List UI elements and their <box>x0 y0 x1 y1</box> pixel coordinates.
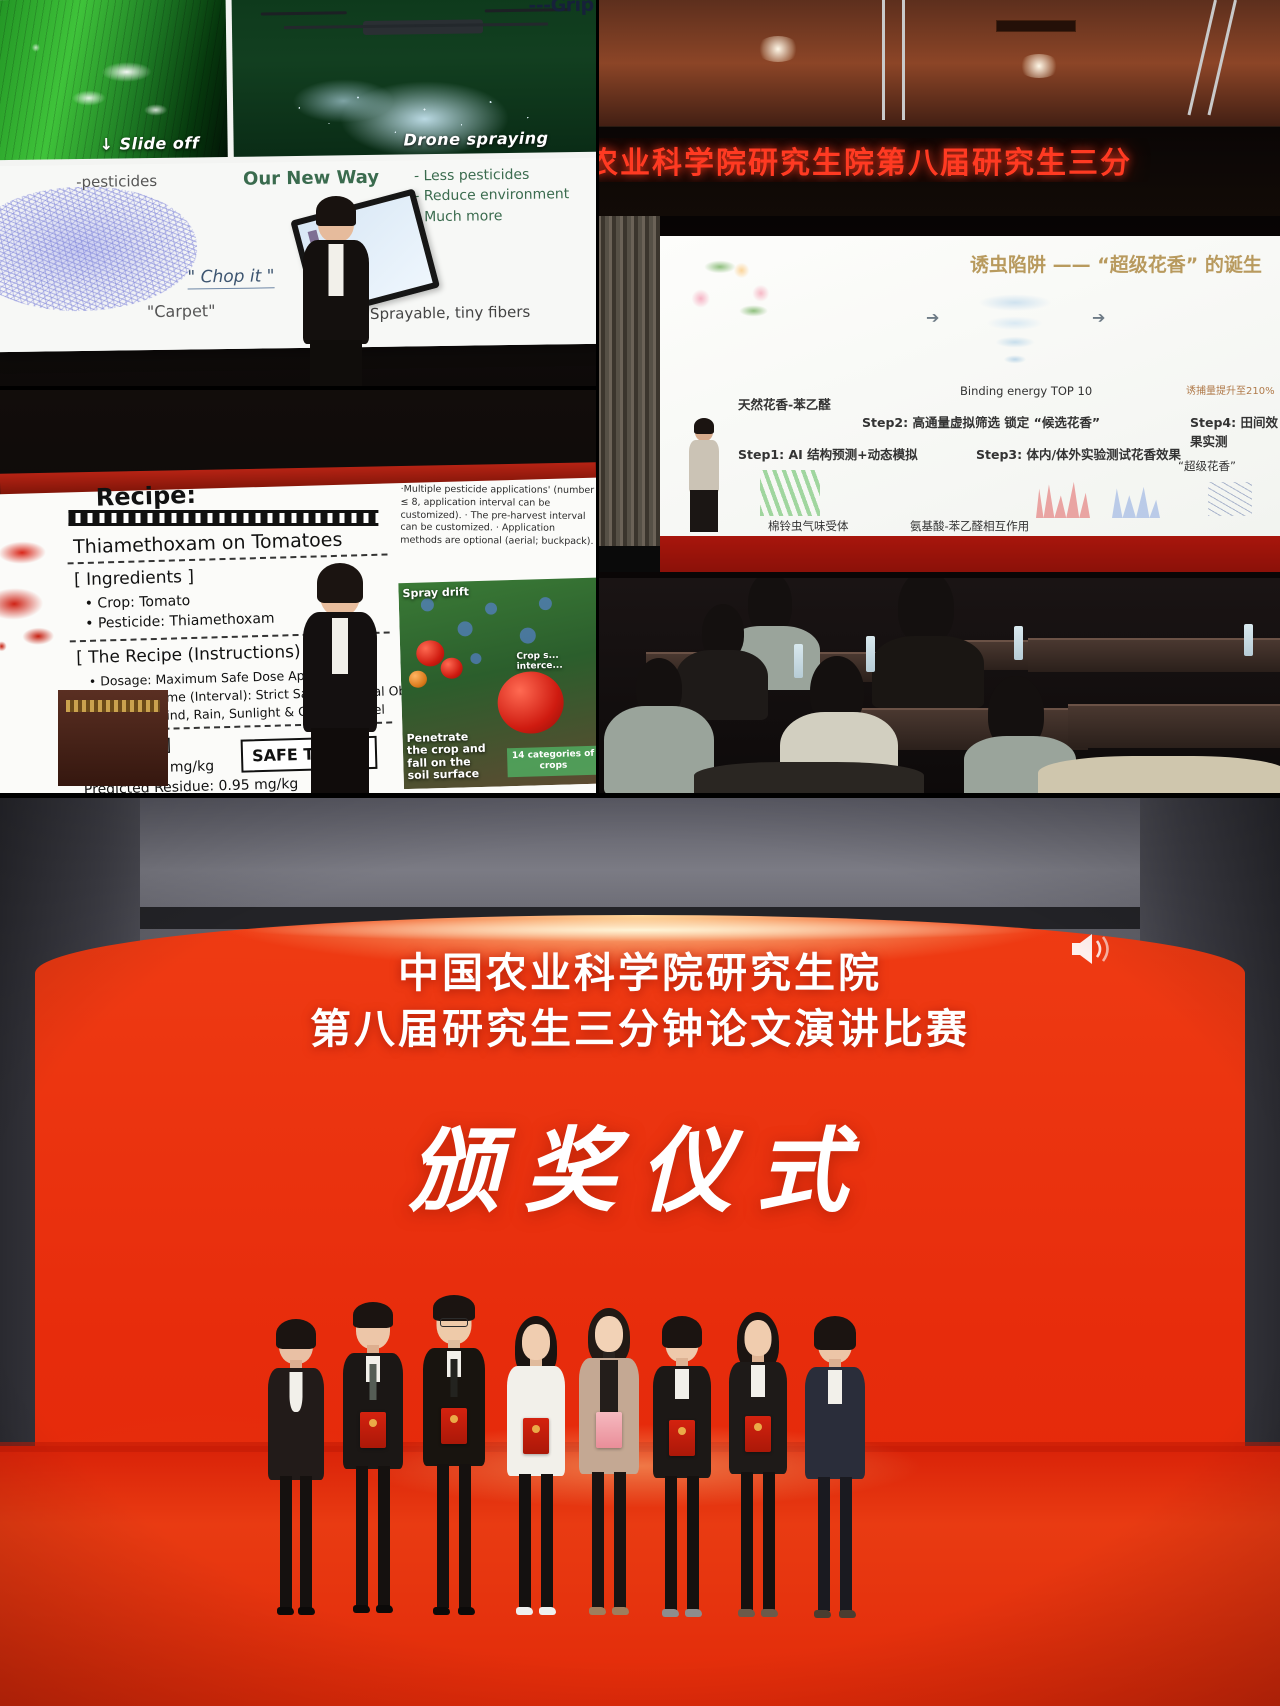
podium-nameplate <box>66 700 160 712</box>
person-7 <box>730 1318 786 1614</box>
speaker-icon <box>1068 929 1112 969</box>
banner-calligraphy: 颁奖仪式 <box>0 1097 1280 1230</box>
molecule-graphic <box>1208 482 1252 516</box>
penetrate-label: Penetrate the crop and fall on the soil … <box>406 731 491 783</box>
drone-arm-left <box>283 24 415 29</box>
photo-bottom-award-ceremony: 中国农业科学院研究生院 第八届研究生三分钟论文演讲比赛 颁奖仪式 <box>0 797 1280 1706</box>
binding-energy-label: Binding energy TOP 10 <box>960 384 1092 398</box>
ceiling <box>0 797 1280 919</box>
drone-body <box>363 19 483 35</box>
presenter-silhouette <box>300 200 372 388</box>
audience-fur-coat <box>1038 756 1280 795</box>
certificate-2 <box>441 1408 467 1444</box>
photo-top-left-presenter: ↓Slide off Drone spraying ---Grip -pesti… <box>0 0 596 388</box>
drone-arm-right <box>416 22 548 27</box>
step3-label: Step3: 体内/体外实验测试花香效果 <box>976 444 1181 463</box>
audience-seating <box>598 578 1280 795</box>
spray-drift-label: Spray drift <box>402 585 469 600</box>
ceiling <box>598 0 1280 132</box>
tomato-splat-graphic <box>0 530 81 683</box>
capture-increase-label: 诱捕量提升至210% <box>1186 382 1275 397</box>
carpet-label: "Carpet" <box>147 301 216 321</box>
leaf-droplet-photo: ↓Slide off <box>0 0 228 160</box>
ceiling-light-2 <box>1018 54 1060 78</box>
benefit-bullet-2: - Reduce environment <box>414 184 569 206</box>
divider-vertical <box>596 0 599 797</box>
water-bottle-1 <box>794 644 803 678</box>
necktie <box>451 1359 458 1397</box>
ingredient-pesticide: • Pesticide: Thiamethoxam <box>85 611 275 632</box>
right-column: ·Multiple pesticide applications' (numbe… <box>396 480 596 789</box>
person-6 <box>654 1322 710 1614</box>
photo-mid-left-recipe-slide: Recipe: Thiamethoxam on Tomatoes [ Ingre… <box>0 390 596 795</box>
odor-receptor-label: 棉铃虫气味受体 <box>768 518 849 534</box>
water-bottle-2 <box>866 636 875 672</box>
audience-desk-5 <box>1068 704 1280 748</box>
chop-it-label: " Chop it " <box>187 266 274 289</box>
slide-title: 诱虫陷阱 —— “超级花香” 的诞生 <box>970 250 1262 277</box>
water-bottle-3 <box>1014 626 1023 660</box>
divider-horizontal-left <box>0 386 598 390</box>
step2-label: Step2: 高通量虚拟筛选 锁定 “候选花香” <box>862 412 1100 431</box>
ceiling-pipe-2 <box>902 0 905 120</box>
person-3 <box>424 1302 484 1614</box>
audience-row-front <box>694 762 924 795</box>
drone-spraying-photo: Drone spraying <box>232 0 596 157</box>
application-notes: ·Multiple pesticide applications' (numbe… <box>400 484 596 549</box>
crop-intercept-label: Crop s... interce... <box>516 650 587 672</box>
slide-off-label: Slide off <box>119 133 199 153</box>
ceiling-pipe-1 <box>882 0 885 120</box>
tomato-field-photo: Spray drift Crop s... interce... Penetra… <box>398 578 596 790</box>
step4-label: Step4: 田间效果实测 <box>1190 412 1280 450</box>
divider-horizontal-main <box>0 793 1280 798</box>
ingredients-heading: [ Ingredients ] <box>74 567 195 590</box>
slide-lower-half: -pesticides Our New Way " Chop it " "Car… <box>0 158 596 353</box>
natural-fragrance-label: 天然花香-苯乙醛 <box>738 394 831 413</box>
recipe-subtitle: Thiamethoxam on Tomatoes <box>73 529 343 559</box>
grip-heading: ---Grip <box>528 0 594 17</box>
water-bottle-4 <box>1244 624 1253 656</box>
interaction-label: 氨基酸-苯乙醛相互作用 <box>910 518 1029 534</box>
ingredient-crop: • Crop: Tomato <box>85 593 191 612</box>
super-fragrance-label: “超级花香” <box>1178 458 1236 474</box>
person-5 <box>580 1314 638 1614</box>
stage-curtain <box>598 216 660 546</box>
bar-chart-graphic <box>1036 476 1090 518</box>
recipe-heading: Recipe: <box>95 481 196 512</box>
down-arrow-icon: ↓ <box>99 135 113 154</box>
photo-collage: ↓Slide off Drone spraying ---Grip -pesti… <box>0 0 1280 1706</box>
person-4 <box>508 1322 564 1614</box>
banner-title-line-2: 第八届研究生三分钟论文演讲比赛 <box>0 995 1280 1055</box>
bar-chart-graphic-2 <box>1112 480 1160 518</box>
recipe-section-heading: [ The Recipe (Instructions) ] <box>76 642 313 669</box>
sprayable-fibers-label: Sprayable, tiny fibers <box>370 303 531 323</box>
certificate-6 <box>745 1416 771 1452</box>
audience-desk-3 <box>1028 638 1280 672</box>
funnel-graphic <box>960 294 1070 380</box>
fiber-carpet-illustration <box>0 185 198 312</box>
flower-decoration <box>672 244 792 332</box>
podium <box>58 690 168 786</box>
person-2 <box>344 1308 402 1614</box>
drone-rotor-left <box>261 11 347 15</box>
eyeglasses-icon <box>440 1318 468 1327</box>
benefit-bullet-3: - Much more <box>414 205 569 227</box>
certificate-3 <box>523 1418 549 1454</box>
film-strip-divider <box>68 510 378 526</box>
protein-structure-graphic <box>760 470 820 516</box>
person-8 <box>806 1322 864 1614</box>
slide-off-caption: ↓Slide off <box>99 133 199 153</box>
crop-categories-badge: 14 categories of crops <box>507 746 596 777</box>
step1-label: Step1: AI 结构预测+动态模拟 <box>738 444 918 463</box>
certificate-1 <box>360 1412 386 1448</box>
benefit-bullet-1: - Less pesticides <box>414 164 569 186</box>
ceiling-light-1 <box>756 36 800 62</box>
arrow-icon-1: ➔ <box>926 308 939 328</box>
ceiling-vent <box>996 20 1076 32</box>
slide-image-row: ↓Slide off Drone spraying <box>0 0 596 160</box>
projection-screen: ↓Slide off Drone spraying ---Grip -pesti… <box>0 0 596 352</box>
pesticides-label: -pesticides <box>76 172 157 191</box>
arrow-icon-2: ➔ <box>1092 308 1105 328</box>
necktie <box>370 1364 377 1400</box>
certificate-5 <box>669 1420 695 1456</box>
audience-torso-3 <box>872 636 984 708</box>
our-new-way-label: Our New Way <box>243 167 379 190</box>
on-stage-speaker <box>682 420 726 546</box>
presenter-silhouette <box>300 568 380 795</box>
certificate-4 <box>596 1412 622 1448</box>
person-1 <box>268 1324 324 1614</box>
presentation-slide: 诱虫陷阱 —— “超级花香” 的诞生 ➔ ➔ Binding energy TO… <box>660 236 1280 536</box>
photo-right-auditorium: 农业科学院研究生院第八届研究生三分 诱虫陷阱 —— “超级花香” 的诞生 ➔ ➔… <box>598 0 1280 795</box>
led-banner-text: 农业科学院研究生院第八届研究生三分 <box>598 138 1280 182</box>
drone-spraying-caption: Drone spraying <box>403 128 548 149</box>
audience-head-3 <box>898 578 954 644</box>
benefit-bullets: - Less pesticides - Reduce environment -… <box>414 164 570 227</box>
